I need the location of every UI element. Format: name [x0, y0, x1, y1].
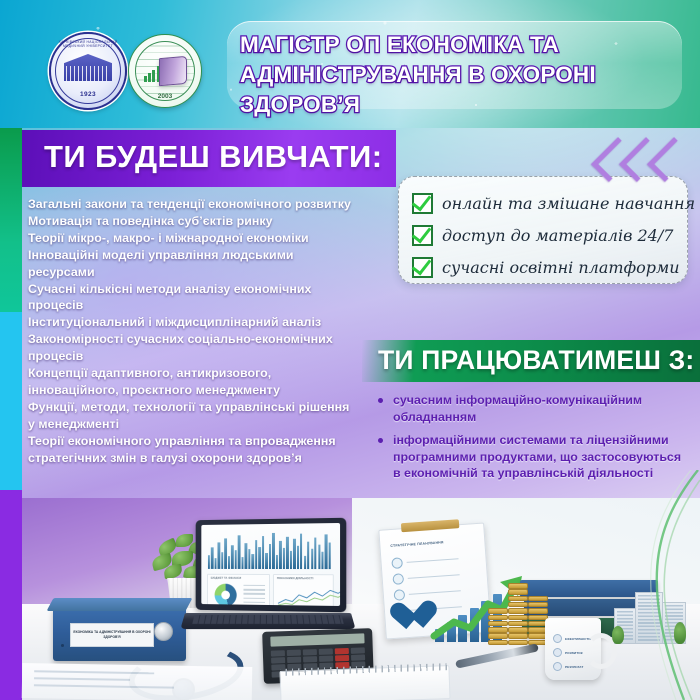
- coin-stack: [508, 583, 528, 646]
- clipboard-row-icon: [394, 589, 406, 601]
- page-title-line1: МАГІСТР ОП ЕКОНОМІКА ТА: [240, 32, 559, 57]
- study-list-items: Загальні закони та тенденції економічног…: [28, 196, 400, 466]
- list-item: стратегічних змін в галузі охорони здоро…: [28, 450, 400, 466]
- chevron-left-icon: [647, 137, 692, 182]
- heartbeat-icon: [396, 602, 430, 633]
- binder-ring-icon: [154, 622, 173, 641]
- list-item: ресурсами: [28, 264, 400, 280]
- study-list: Загальні закони та тенденції економічног…: [28, 196, 400, 467]
- bar-chart-icon: [144, 65, 159, 82]
- checkbox-checked-icon: [412, 225, 433, 246]
- list-item: онлайн та змішане навчання: [412, 193, 695, 214]
- list-item: Загальні закони та тенденції економічног…: [28, 196, 400, 212]
- university-columns-icon: [66, 66, 110, 81]
- donut-chart-icon: [215, 584, 237, 606]
- edge-strip-cyan: [0, 312, 22, 490]
- list-item: Інноваційні моделі управління людськими: [28, 247, 400, 263]
- work-heading: ТИ ПРАЦЮВАТИМЕШ З:: [378, 345, 694, 376]
- edge-strip-purple: [0, 490, 22, 700]
- book-icon: [159, 56, 187, 86]
- spiral-notebook: [279, 665, 450, 700]
- laptop-lid: БЮДЖЕТ ТА ФІНАНСИ ПОКАЗНИКИ ДІЯЛЬНОСТІ: [196, 518, 347, 612]
- mug-label: РЕЗУЛЬТАТ: [565, 665, 583, 669]
- list-item: Теорії мікро-, макро- і міжнародної екон…: [28, 230, 400, 246]
- study-heading-banner: ТИ БУДЕШ ВИВЧАТИ:: [22, 130, 396, 187]
- page-title-line2: АДМІНІСТРУВАННЯ В ОХОРОНІ ЗДОРОВ’Я: [240, 60, 688, 120]
- checkbox-checked-icon: [412, 257, 433, 278]
- checklist-item-label: сучасні освітні платформи: [442, 258, 680, 277]
- clipboard-row: [391, 553, 459, 569]
- city-buildings: [612, 582, 688, 644]
- dashboard-bar-chart: [208, 530, 334, 569]
- university-logo: ХАРКІВСЬКИЙ НАЦІОНАЛЬНИЙ МЕДИЧНИЙ УНІВЕР…: [49, 32, 127, 110]
- study-heading: ТИ БУДЕШ ВИВЧАТИ:: [44, 139, 382, 175]
- scattered-papers: [22, 663, 253, 700]
- laptop-base: [180, 613, 355, 629]
- list-item: сучасні освітні платформи: [412, 257, 680, 278]
- mug-bullet-icon: [553, 662, 562, 671]
- laptop-screen: БЮДЖЕТ ТА ФІНАНСИ ПОКАЗНИКИ ДІЯЛЬНОСТІ: [201, 523, 340, 606]
- work-heading-banner: ТИ ПРАЦЮВАТИМЕШ З:: [362, 340, 700, 382]
- clipboard-row-icon: [392, 573, 404, 585]
- list-item: процесів: [28, 297, 400, 313]
- mug-row: РЕЗУЛЬТАТ: [553, 662, 583, 671]
- laptop-keyboard: [192, 615, 343, 624]
- chevron-arrows-decoration: [592, 133, 696, 181]
- list-item: Теорії економічного управління та впрова…: [28, 433, 400, 449]
- mug-row: РОЗВИТОК: [553, 648, 583, 657]
- work-list: сучасним інформаційно-комунікаційним обл…: [376, 392, 692, 489]
- mug-label: ЕФЕКТИВНІСТЬ: [565, 637, 591, 641]
- clipboard-title: СТРАТЕГІЧНЕ ПЛАНУВАННЯ: [390, 540, 443, 548]
- list-item: інформаційними системами та ліцензійними…: [376, 432, 692, 482]
- dashboard-panel-budget: БЮДЖЕТ ТА ФІНАНСИ: [207, 574, 270, 606]
- list-item: Концепції адаптивного, антикризового,: [28, 365, 400, 381]
- dashboard-panel-indicators: ПОКАЗНИКИ ДІЯЛЬНОСТІ: [273, 574, 334, 606]
- calculator-display: [270, 633, 364, 646]
- list-item: сучасним інформаційно-комунікаційним обл…: [376, 392, 692, 425]
- university-logo-year: 1923: [51, 91, 125, 98]
- list-item: Інституціональний і міждисциплінарний ан…: [28, 314, 400, 330]
- list-item: Закономірності сучасних соціально-економ…: [28, 331, 400, 347]
- coin-stack: [488, 608, 508, 646]
- list-item: доступ до матеріалів 24/7: [412, 225, 673, 246]
- mug-row: ЕФЕКТИВНІСТЬ: [553, 634, 591, 643]
- list-item: інноваційного, проєктного менеджменту: [28, 382, 400, 398]
- page-title: МАГІСТР ОП ЕКОНОМІКА ТА АДМІНІСТРУВАННЯ …: [240, 30, 688, 120]
- mug-label: РОЗВИТОК: [565, 651, 583, 655]
- dashboard-panel-indicators-title: ПОКАЗНИКИ ДІЯЛЬНОСТІ: [277, 577, 313, 580]
- coin-stacks: [488, 592, 550, 646]
- list-item: у менеджменті: [28, 416, 400, 432]
- list-item: процесів: [28, 348, 400, 364]
- binder-dot: [61, 644, 64, 647]
- list-item: Сучасні кількісні методи аналізу економі…: [28, 281, 400, 297]
- faculty-logo: 2003: [128, 34, 202, 108]
- laptop: БЮДЖЕТ ТА ФІНАНСИ ПОКАЗНИКИ ДІЯЛЬНОСТІ: [185, 519, 351, 635]
- clipboard-row-icon: [391, 557, 403, 569]
- university-logo-arc-text: ХАРКІВСЬКИЙ НАЦІОНАЛЬНИЙ МЕДИЧНИЙ УНІВЕР…: [51, 40, 125, 48]
- coffee-mug: ЕФЕКТИВНІСТЬ РОЗВИТОК РЕЗУЛЬТАТ: [545, 618, 601, 680]
- line-chart-icon: [278, 586, 340, 606]
- binder-top-face: [47, 598, 193, 611]
- checklist-item-label: доступ до матеріалів 24/7: [442, 226, 673, 245]
- mug-bullet-icon: [553, 634, 562, 643]
- poster-root: ХАРКІВСЬКИЙ НАЦІОНАЛЬНИЙ МЕДИЧНИЙ УНІВЕР…: [0, 0, 700, 700]
- checklist-item-label: онлайн та змішане навчання: [442, 194, 695, 213]
- checkbox-checked-icon: [412, 193, 433, 214]
- list-item: Мотивація та поведінка суб’єктів ринку: [28, 213, 400, 229]
- mug-bullet-icon: [553, 648, 562, 657]
- binder-label: ЕКОНОМІКА ТА АДМІНІСТРУВАННЯ В ОХОРОНІ З…: [70, 623, 154, 647]
- donut-legend: [243, 585, 265, 606]
- dashboard-panel-budget-title: БЮДЖЕТ ТА ФІНАНСИ: [211, 577, 242, 580]
- faculty-logo-year: 2003: [129, 93, 201, 100]
- list-item: Функції, методи, технології та управлінс…: [28, 399, 400, 415]
